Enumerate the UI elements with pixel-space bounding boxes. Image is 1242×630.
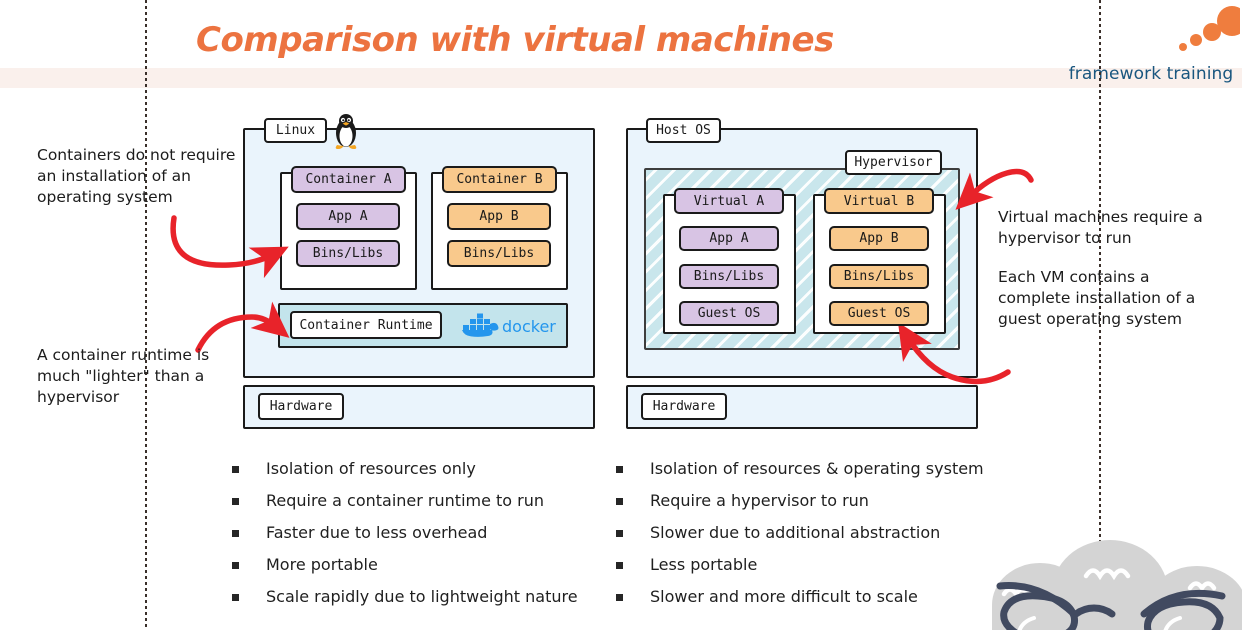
- list-item: Slower due to additional abstraction: [616, 517, 984, 549]
- vm-b-row-guestos: Guest OS: [829, 301, 929, 326]
- list-item: Require a hypervisor to run: [616, 485, 984, 517]
- vm-hardware-tag: Hardware: [641, 393, 727, 420]
- container-hardware-tag: Hardware: [258, 393, 344, 420]
- list-item: Isolation of resources only: [232, 453, 578, 485]
- linux-os-tag: Linux: [264, 118, 327, 143]
- vm-bullet-list: Isolation of resources & operating syste…: [616, 453, 984, 613]
- container-bullet-list: Isolation of resources only Require a co…: [232, 453, 578, 613]
- header-accent-band: [0, 68, 1242, 88]
- list-item: Scale rapidly due to lightweight nature: [232, 581, 578, 613]
- list-item: More portable: [232, 549, 578, 581]
- page-title: Comparison with virtual machines: [196, 20, 896, 60]
- linux-penguin-icon: [331, 113, 361, 151]
- container-b-row-binslibs: Bins/Libs: [447, 240, 551, 267]
- vm-b-row-binslibs: Bins/Libs: [829, 264, 929, 289]
- container-a-row-app: App A: [296, 203, 400, 230]
- note-left-bottom: A container runtime is much "lighter" th…: [37, 345, 227, 408]
- hypervisor-tag: Hypervisor: [845, 150, 942, 175]
- vm-a-row-binslibs: Bins/Libs: [679, 264, 779, 289]
- docker-whale-icon: docker: [462, 312, 558, 338]
- vm-b-row-app: App B: [829, 226, 929, 251]
- note-right-top: Virtual machines require a hypervisor to…: [998, 207, 1203, 249]
- host-os-tag: Host OS: [646, 118, 721, 143]
- list-item: Require a container runtime to run: [232, 485, 578, 517]
- cloud-glasses-decoration: [982, 520, 1242, 630]
- vm-a-row-guestos: Guest OS: [679, 301, 779, 326]
- note-left-top: Containers do not require an installatio…: [37, 145, 237, 208]
- arrow-right-top: [969, 172, 1031, 197]
- vm-a-title: Virtual A: [674, 188, 784, 214]
- container-b-title: Container B: [442, 166, 557, 193]
- list-item: Slower and more difficult to scale: [616, 581, 984, 613]
- container-b-row-app: App B: [447, 203, 551, 230]
- docker-wordmark: docker: [502, 317, 556, 336]
- logo-dots-icon: [1062, 4, 1240, 70]
- list-item: Faster due to less overhead: [232, 517, 578, 549]
- container-a-title: Container A: [291, 166, 406, 193]
- note-right-bottom: Each VM contains a complete installation…: [998, 267, 1203, 330]
- list-item: Isolation of resources & operating syste…: [616, 453, 984, 485]
- brand-logo: framework training: [1062, 4, 1240, 90]
- vm-b-title: Virtual B: [824, 188, 934, 214]
- list-item: Less portable: [616, 549, 984, 581]
- container-runtime-tag: Container Runtime: [290, 311, 442, 339]
- vm-a-row-app: App A: [679, 226, 779, 251]
- guide-line-left: [145, 0, 147, 630]
- container-a-row-binslibs: Bins/Libs: [296, 240, 400, 267]
- logo-wordmark: framework training: [1062, 64, 1240, 84]
